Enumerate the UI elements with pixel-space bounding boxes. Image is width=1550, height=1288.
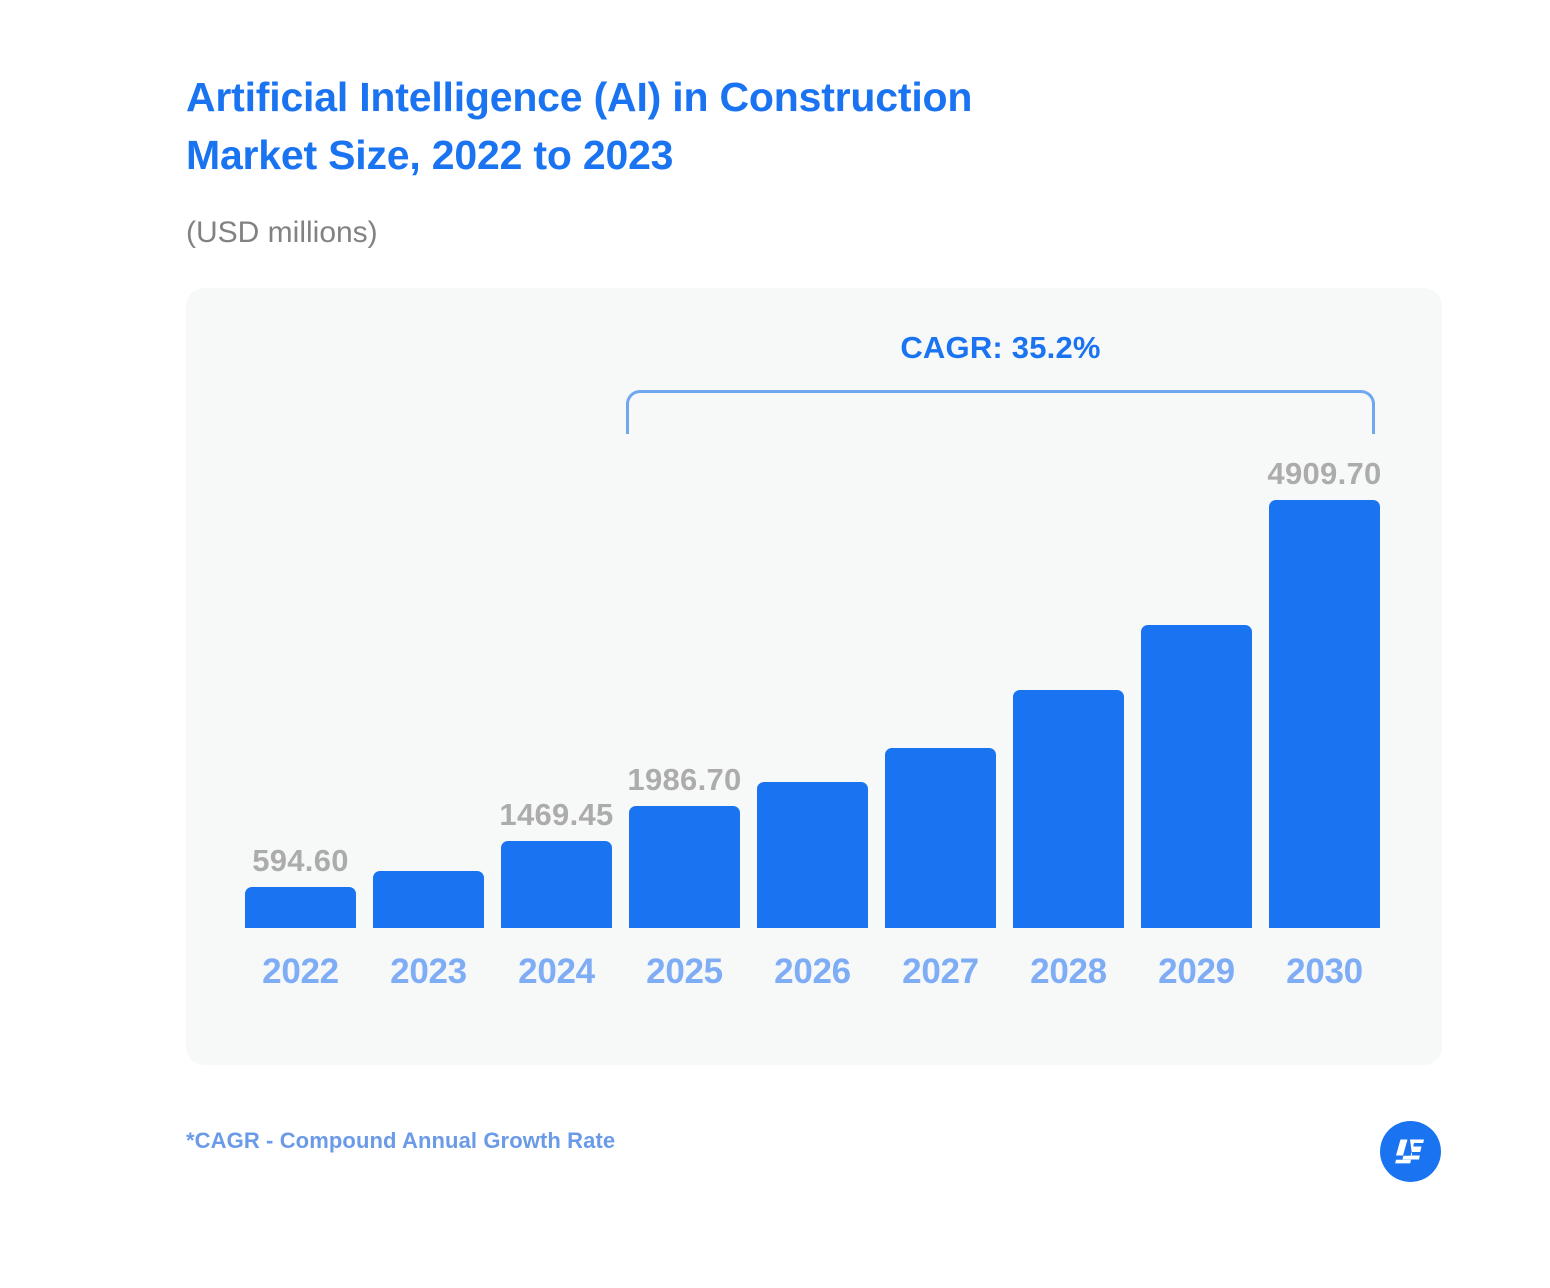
- x-tick-2024: 2024: [501, 952, 612, 992]
- bar-2030[interactable]: 4909.70: [1269, 500, 1380, 928]
- x-axis: 202220232024202520262027202820292030: [245, 952, 1375, 1002]
- bar-rect[interactable]: [501, 841, 612, 928]
- chart-canvas: Artificial Intelligence (AI) in Construc…: [0, 0, 1550, 1288]
- bar-2024[interactable]: 1469.45: [501, 841, 612, 928]
- bar-rect[interactable]: [885, 748, 996, 928]
- brand-logo-icon: [1380, 1121, 1441, 1182]
- bar-rect[interactable]: [757, 782, 868, 928]
- bar-value-label-2030: 4909.70: [1267, 456, 1381, 492]
- page-title: Artificial Intelligence (AI) in Construc…: [186, 68, 1276, 184]
- bar-2022[interactable]: 594.60: [245, 887, 356, 928]
- bar-rect[interactable]: [1269, 500, 1380, 928]
- cagr-annotation-label: CAGR: 35.2%: [626, 330, 1375, 366]
- x-tick-2022: 2022: [245, 952, 356, 992]
- cagr-bracket: [626, 390, 1375, 434]
- bar-plot-area: 594.601469.451986.704909.70: [245, 460, 1375, 928]
- bar-rect[interactable]: [1013, 690, 1124, 928]
- bar-rect[interactable]: [1141, 625, 1252, 928]
- bar-2023[interactable]: [373, 871, 484, 928]
- x-tick-2023: 2023: [373, 952, 484, 992]
- x-tick-2027: 2027: [885, 952, 996, 992]
- x-tick-2029: 2029: [1141, 952, 1252, 992]
- bar-rect[interactable]: [373, 871, 484, 928]
- x-tick-2028: 2028: [1013, 952, 1124, 992]
- bar-2027[interactable]: [885, 748, 996, 928]
- bar-2029[interactable]: [1141, 625, 1252, 928]
- bar-value-label-2024: 1469.45: [499, 797, 613, 833]
- bar-rect[interactable]: [629, 806, 740, 928]
- bar-2026[interactable]: [757, 782, 868, 928]
- footnote-text: *CAGR - Compound Annual Growth Rate: [186, 1128, 615, 1154]
- x-tick-2025: 2025: [629, 952, 740, 992]
- x-tick-2026: 2026: [757, 952, 868, 992]
- chart-subtitle: (USD millions): [186, 213, 378, 253]
- bar-value-label-2022: 594.60: [252, 843, 349, 879]
- bar-value-label-2025: 1986.70: [627, 762, 741, 798]
- bar-rect[interactable]: [245, 887, 356, 928]
- bar-2028[interactable]: [1013, 690, 1124, 928]
- x-tick-2030: 2030: [1269, 952, 1380, 992]
- bar-2025[interactable]: 1986.70: [629, 806, 740, 928]
